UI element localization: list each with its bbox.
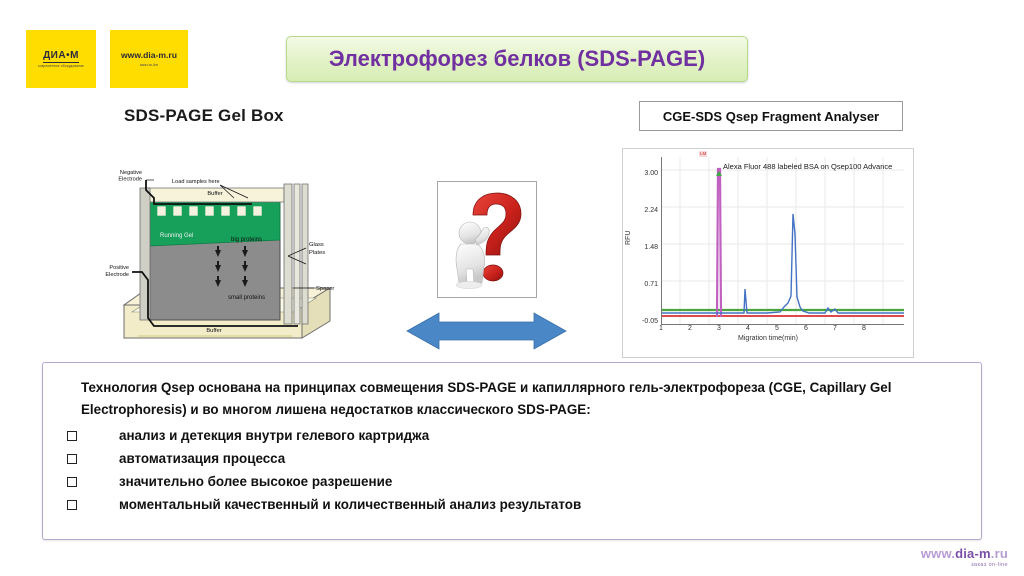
x-tick-4: 4 xyxy=(740,325,756,332)
list-item-label: моментальный качественный и количественн… xyxy=(119,495,581,516)
info-text-box: Технология Qsep основана на принципах со… xyxy=(42,362,982,540)
footer-logo: www.dia-m.ru заказ on-line xyxy=(921,546,1008,568)
info-paragraph: Технология Qsep основана на принципах со… xyxy=(81,377,961,420)
electropherogram-chart: RFU 3.00 2.24 1.48 0.71 -0.05 xyxy=(622,148,914,358)
label-glass-plates-line2: Plates xyxy=(309,250,325,256)
square-bullet-icon xyxy=(67,454,77,464)
x-tick-7: 7 xyxy=(827,325,843,332)
chart-annotation: Alexa Fluor 488 labeled BSA on Qsep100 A… xyxy=(723,162,892,171)
label-running-gel: Running Gel xyxy=(160,233,193,239)
site-logo-subtext: заказ on-line xyxy=(140,63,158,67)
chart-peak-marker-label: LM xyxy=(699,151,707,157)
x-tick-5: 5 xyxy=(769,325,785,332)
site-logo-url: www.dia-m.ru xyxy=(121,51,177,60)
list-item: значительно более высокое разрешение xyxy=(63,472,961,493)
cge-sds-heading-box: CGE-SDS Qsep Fragment Analyser xyxy=(639,101,903,131)
list-item-label: значительно более высокое разрешение xyxy=(119,472,392,493)
square-bullet-icon xyxy=(67,500,77,510)
label-glass-plates-line1: Glass xyxy=(309,242,324,248)
label-positive-electrode-line1: Positive xyxy=(109,265,129,271)
label-buffer-top: Buffer xyxy=(207,191,222,197)
chart-plot-area xyxy=(661,157,904,325)
footer-subtext: заказ on-line xyxy=(921,562,1008,568)
label-spacer: Spacer xyxy=(316,286,334,292)
chart-traces-svg xyxy=(662,157,904,324)
label-buffer-bottom: Buffer xyxy=(206,328,221,334)
brand-logo: ДИА•М современное оборудование xyxy=(26,30,96,88)
page-title: Электрофорез белков (SDS-PAGE) xyxy=(329,46,705,72)
list-item: автоматизация процесса xyxy=(63,449,961,470)
x-tick-6: 6 xyxy=(798,325,814,332)
list-item-label: анализ и детекция внутри гелевого картри… xyxy=(119,426,429,447)
question-mark-image xyxy=(437,181,537,298)
list-item: моментальный качественный и количественн… xyxy=(63,495,961,516)
sds-page-gel-box-diagram: Negative Electrode Load samples here Buf… xyxy=(102,168,352,356)
square-bullet-icon xyxy=(67,431,77,441)
label-positive-electrode-line2: Electrode xyxy=(105,272,129,278)
x-tick-2: 2 xyxy=(682,325,698,332)
double-headed-arrow-icon xyxy=(405,311,568,351)
cge-sds-heading: CGE-SDS Qsep Fragment Analyser xyxy=(663,109,879,124)
y-tick-min: -0.05 xyxy=(630,318,658,325)
label-big-proteins: big proteins xyxy=(231,237,262,243)
footer-url-prefix: www. xyxy=(921,546,955,561)
info-bullet-list: анализ и детекция внутри гелевого картри… xyxy=(63,426,961,515)
y-tick-1: 1.48 xyxy=(630,244,658,251)
list-item: анализ и детекция внутри гелевого картри… xyxy=(63,426,961,447)
slide-root: ДИА•М современное оборудование www.dia-m… xyxy=(0,0,1024,576)
x-tick-1: 1 xyxy=(653,325,669,332)
site-logo: www.dia-m.ru заказ on-line xyxy=(110,30,188,88)
footer-url-main: dia-m xyxy=(955,546,991,561)
slide-title-banner: Электрофорез белков (SDS-PAGE) xyxy=(286,36,748,82)
x-tick-3: 3 xyxy=(711,325,727,332)
list-item-label: автоматизация процесса xyxy=(119,449,285,470)
label-negative-electrode-line1: Negative xyxy=(120,170,142,176)
x-tick-8: 8 xyxy=(856,325,872,332)
label-load-samples: Load samples here xyxy=(172,179,220,185)
footer-url-suffix: ru xyxy=(995,546,1008,561)
brand-logo-text: ДИА•М xyxy=(43,50,79,63)
chart-x-axis-label: Migration time(min) xyxy=(623,335,913,342)
y-tick-2: 2.24 xyxy=(630,207,658,214)
footer-url: www.dia-m.ru xyxy=(921,546,1008,561)
square-bullet-icon xyxy=(67,477,77,487)
label-negative-electrode-line2: Electrode xyxy=(118,177,142,183)
label-small-proteins: small proteins xyxy=(228,295,265,301)
brand-logo-subtext: современное оборудование xyxy=(38,64,84,68)
gel-box-heading: SDS-PAGE Gel Box xyxy=(124,106,284,126)
y-tick-3: 3.00 xyxy=(630,170,658,177)
y-tick-0: 0.71 xyxy=(630,281,658,288)
